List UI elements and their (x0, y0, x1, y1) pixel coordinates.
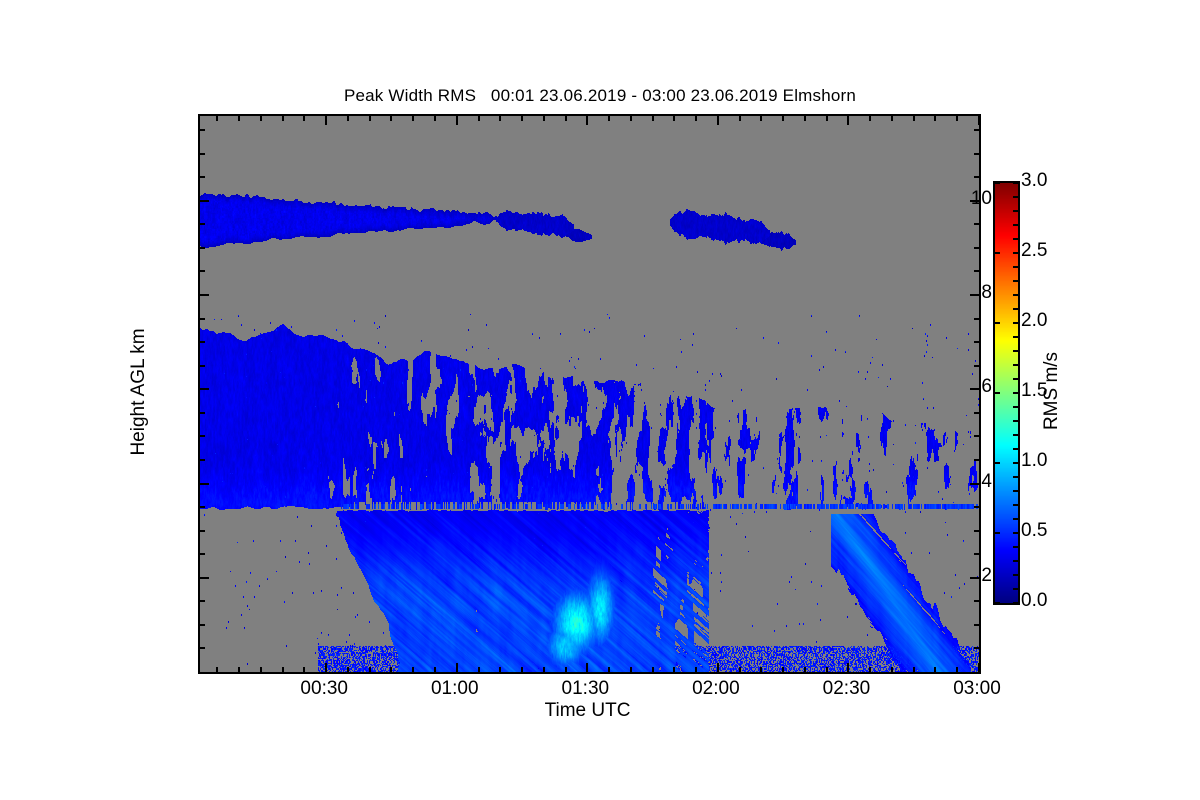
y-axis-minor-tick (200, 270, 205, 272)
y-axis-minor-tick (200, 153, 205, 155)
x-axis-minor-tick (347, 116, 349, 121)
x-axis-minor-tick (608, 667, 610, 672)
y-axis-major-tick (970, 294, 979, 296)
x-axis-minor-tick (238, 667, 240, 672)
y-axis-minor-tick (200, 647, 205, 649)
x-axis-minor-tick (782, 116, 784, 121)
colorbar-minor-tick (1013, 476, 1018, 478)
x-axis-minor-tick (652, 667, 654, 672)
x-axis-minor-tick (369, 667, 371, 672)
colorbar-tick-label: 2.5 (1021, 240, 1047, 262)
x-axis-major-tick (456, 116, 458, 125)
colorbar-minor-tick (1013, 196, 1018, 198)
colorbar-minor-tick (1013, 224, 1018, 226)
y-axis-minor-tick (974, 459, 979, 461)
y-axis-major-tick (200, 200, 209, 202)
x-axis-minor-tick (216, 667, 218, 672)
y-axis-major-tick (970, 483, 979, 485)
y-axis-minor-tick (974, 247, 979, 249)
x-axis-minor-tick (238, 116, 240, 121)
x-axis-minor-tick (478, 116, 480, 121)
x-axis-major-tick (978, 663, 980, 672)
y-axis-minor-tick (200, 318, 205, 320)
colorbar-label: RMS m/s (1041, 352, 1063, 430)
x-axis-minor-tick (695, 116, 697, 121)
colorbar-minor-tick (1013, 518, 1018, 520)
x-axis-minor-tick (260, 116, 262, 121)
y-axis-minor-tick (200, 341, 205, 343)
colorbar-major-tick (1013, 462, 1018, 464)
x-axis-minor-tick (499, 667, 501, 672)
x-axis-minor-tick (412, 667, 414, 672)
colorbar-tick-label: 3.0 (1021, 170, 1047, 192)
x-axis-major-tick (847, 663, 849, 672)
x-axis-minor-tick (630, 116, 632, 121)
colorbar[interactable] (993, 181, 1020, 605)
y-axis-minor-tick (200, 365, 205, 367)
x-axis-minor-tick (673, 667, 675, 672)
y-axis-minor-tick (974, 412, 979, 414)
y-axis-minor-tick (974, 600, 979, 602)
colorbar-major-tick (1013, 252, 1018, 254)
lidar-quicklook-figure: Peak Width RMS 00:01 23.06.2019 - 03:00 … (0, 0, 1200, 800)
x-axis-minor-tick (303, 667, 305, 672)
colorbar-major-tick (1013, 602, 1018, 604)
colorbar-major-tick (1013, 182, 1018, 184)
y-axis-minor-tick (974, 318, 979, 320)
colorbar-minor-tick (1013, 308, 1018, 310)
colorbar-major-tick (1013, 532, 1018, 534)
x-axis-minor-tick (390, 116, 392, 121)
colorbar-minor-tick (1013, 504, 1018, 506)
x-axis-minor-tick (543, 116, 545, 121)
colorbar-major-tick (995, 532, 1000, 534)
x-axis-minor-tick (216, 116, 218, 121)
x-axis-major-tick (586, 116, 588, 125)
colorbar-minor-tick (1013, 574, 1018, 576)
y-axis-minor-tick (200, 435, 205, 437)
x-axis-major-tick (586, 663, 588, 672)
x-axis-tick-label: 01:00 (431, 678, 479, 700)
colorbar-major-tick (1013, 322, 1018, 324)
y-axis-tick-label: 10 (971, 188, 992, 210)
colorbar-minor-tick (1013, 280, 1018, 282)
x-axis-minor-tick (282, 116, 284, 121)
x-axis-tick-label: 02:00 (692, 678, 740, 700)
colorbar-major-tick (995, 462, 1000, 464)
colorbar-minor-tick (1013, 434, 1018, 436)
y-axis-minor-tick (200, 530, 205, 532)
y-axis-minor-tick (974, 506, 979, 508)
x-axis-minor-tick (891, 116, 893, 121)
colorbar-minor-tick (1013, 406, 1018, 408)
x-axis-minor-tick (826, 116, 828, 121)
y-axis-major-tick (200, 483, 209, 485)
y-axis-minor-tick (200, 506, 205, 508)
colorbar-major-tick (995, 392, 1000, 394)
x-axis-tick-label: 02:30 (823, 678, 871, 700)
y-axis-tick-label: 8 (981, 282, 992, 304)
y-axis-minor-tick (200, 247, 205, 249)
x-axis-minor-tick (478, 667, 480, 672)
x-axis-minor-tick (652, 116, 654, 121)
y-axis-minor-tick (974, 553, 979, 555)
x-axis-minor-tick (630, 667, 632, 672)
x-axis-minor-tick (782, 667, 784, 672)
x-axis-minor-tick (499, 116, 501, 121)
x-axis-minor-tick (260, 667, 262, 672)
x-axis-minor-tick (412, 116, 414, 121)
x-axis-major-tick (456, 663, 458, 672)
x-axis-minor-tick (869, 116, 871, 121)
y-axis-minor-tick (974, 223, 979, 225)
y-axis-major-tick (200, 388, 209, 390)
heatmap-canvas[interactable] (200, 116, 979, 672)
colorbar-minor-tick (1013, 350, 1018, 352)
x-axis-minor-tick (434, 667, 436, 672)
y-axis-minor-tick (200, 624, 205, 626)
x-axis-minor-tick (913, 116, 915, 121)
y-axis-minor-tick (974, 176, 979, 178)
x-axis-minor-tick (739, 116, 741, 121)
colorbar-tick-label: 1.0 (1021, 450, 1047, 472)
x-axis-minor-tick (390, 667, 392, 672)
x-axis-minor-tick (891, 667, 893, 672)
x-axis-major-tick (325, 663, 327, 672)
x-axis-minor-tick (826, 667, 828, 672)
y-axis-minor-tick (974, 341, 979, 343)
colorbar-minor-tick (1013, 210, 1018, 212)
x-axis-minor-tick (695, 667, 697, 672)
colorbar-tick-label: 0.0 (1021, 590, 1047, 612)
x-axis-minor-tick (956, 116, 958, 121)
x-axis-minor-tick (543, 667, 545, 672)
x-axis-major-tick (847, 116, 849, 125)
y-axis-minor-tick (974, 530, 979, 532)
x-axis-minor-tick (956, 667, 958, 672)
page-title: Peak Width RMS 00:01 23.06.2019 - 03:00 … (0, 86, 1200, 106)
y-axis-minor-tick (200, 553, 205, 555)
x-axis-minor-tick (565, 116, 567, 121)
x-axis-minor-tick (434, 116, 436, 121)
colorbar-minor-tick (1013, 336, 1018, 338)
x-axis-tick-label: 00:30 (300, 678, 348, 700)
colorbar-tick-label: 0.5 (1021, 520, 1047, 542)
x-axis-minor-tick (608, 116, 610, 121)
y-axis-label: Height AGL km (128, 328, 150, 455)
x-axis-minor-tick (804, 667, 806, 672)
y-axis-major-tick (970, 577, 979, 579)
colorbar-tick-label: 2.0 (1021, 310, 1047, 332)
x-axis-minor-tick (282, 667, 284, 672)
y-axis-minor-tick (974, 365, 979, 367)
x-axis-tick-label: 01:30 (562, 678, 610, 700)
colorbar-minor-tick (1013, 294, 1018, 296)
colorbar-minor-tick (1013, 266, 1018, 268)
x-axis-minor-tick (565, 667, 567, 672)
y-axis-minor-tick (200, 223, 205, 225)
x-axis-tick-label: 03:00 (953, 678, 1001, 700)
x-axis-minor-tick (303, 116, 305, 121)
x-axis-minor-tick (804, 116, 806, 121)
y-axis-minor-tick (200, 412, 205, 414)
plot-axes[interactable] (198, 114, 981, 674)
x-axis-major-tick (978, 116, 980, 125)
y-axis-major-tick (200, 294, 209, 296)
y-axis-minor-tick (974, 624, 979, 626)
y-axis-minor-tick (974, 270, 979, 272)
x-axis-label: Time UTC (198, 700, 977, 722)
x-axis-major-tick (717, 663, 719, 672)
x-axis-minor-tick (673, 116, 675, 121)
y-axis-minor-tick (200, 176, 205, 178)
colorbar-major-tick (995, 182, 1000, 184)
colorbar-major-tick (995, 252, 1000, 254)
y-axis-tick-label: 4 (981, 471, 992, 493)
x-axis-minor-tick (913, 667, 915, 672)
colorbar-major-tick (995, 602, 1000, 604)
colorbar-minor-tick (1013, 364, 1018, 366)
y-axis-minor-tick (200, 600, 205, 602)
x-axis-minor-tick (739, 667, 741, 672)
y-axis-minor-tick (200, 459, 205, 461)
colorbar-minor-tick (1013, 560, 1018, 562)
colorbar-minor-tick (1013, 588, 1018, 590)
y-axis-minor-tick (974, 435, 979, 437)
colorbar-minor-tick (1013, 490, 1018, 492)
y-axis-tick-label: 6 (981, 376, 992, 398)
y-axis-minor-tick (200, 129, 205, 131)
x-axis-minor-tick (934, 116, 936, 121)
x-axis-minor-tick (347, 667, 349, 672)
x-axis-major-tick (325, 116, 327, 125)
y-axis-minor-tick (974, 153, 979, 155)
x-axis-minor-tick (760, 667, 762, 672)
x-axis-minor-tick (521, 667, 523, 672)
y-axis-major-tick (200, 577, 209, 579)
colorbar-major-tick (995, 322, 1000, 324)
y-axis-major-tick (970, 388, 979, 390)
x-axis-major-tick (717, 116, 719, 125)
x-axis-minor-tick (369, 116, 371, 121)
x-axis-minor-tick (869, 667, 871, 672)
y-axis-tick-label: 2 (981, 565, 992, 587)
colorbar-minor-tick (1013, 420, 1018, 422)
x-axis-minor-tick (521, 116, 523, 121)
colorbar-minor-tick (1013, 378, 1018, 380)
x-axis-minor-tick (934, 667, 936, 672)
colorbar-minor-tick (1013, 546, 1018, 548)
x-axis-minor-tick (760, 116, 762, 121)
y-axis-minor-tick (974, 647, 979, 649)
colorbar-minor-tick (1013, 448, 1018, 450)
colorbar-minor-tick (1013, 238, 1018, 240)
y-axis-minor-tick (974, 129, 979, 131)
colorbar-major-tick (1013, 392, 1018, 394)
